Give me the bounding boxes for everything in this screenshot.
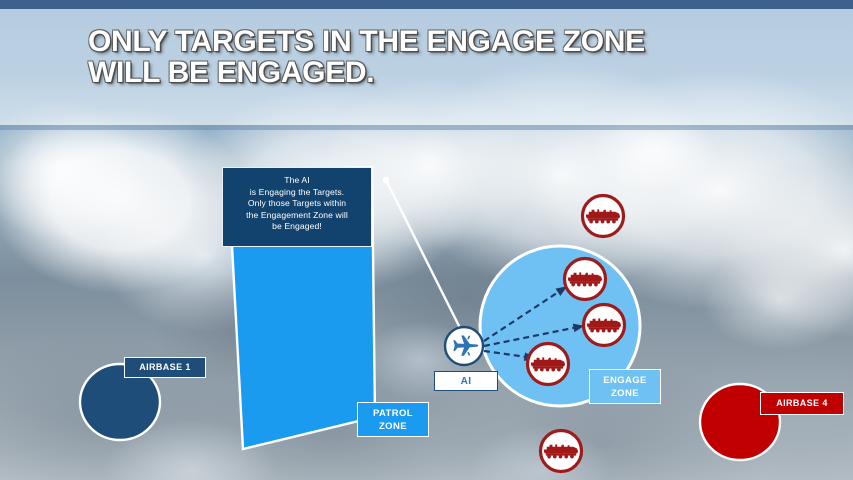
- ai-aircraft-label[interactable]: AI: [434, 371, 498, 391]
- ai-aircraft-marker[interactable]: [445, 327, 483, 365]
- ai-engagement-callout: The AI is Engaging the Targets. Only tho…: [222, 167, 372, 247]
- target-4[interactable]: [583, 196, 624, 237]
- target-5[interactable]: [541, 431, 582, 472]
- slide-canvas: ONLY TARGETS IN THE ENGAGE ZONE WILL BE …: [0, 0, 853, 480]
- target-3[interactable]: [528, 344, 569, 385]
- airbase-1-label[interactable]: AIRBASE 1: [124, 357, 206, 378]
- target-1[interactable]: [565, 259, 606, 300]
- target-2[interactable]: [584, 305, 625, 346]
- engage-zone-label[interactable]: ENGAGE ZONE: [589, 369, 661, 404]
- patrol-zone-label[interactable]: PATROL ZONE: [357, 402, 429, 437]
- callout-leader-line: [383, 177, 464, 336]
- airbase-4-label[interactable]: AIRBASE 4: [760, 392, 844, 415]
